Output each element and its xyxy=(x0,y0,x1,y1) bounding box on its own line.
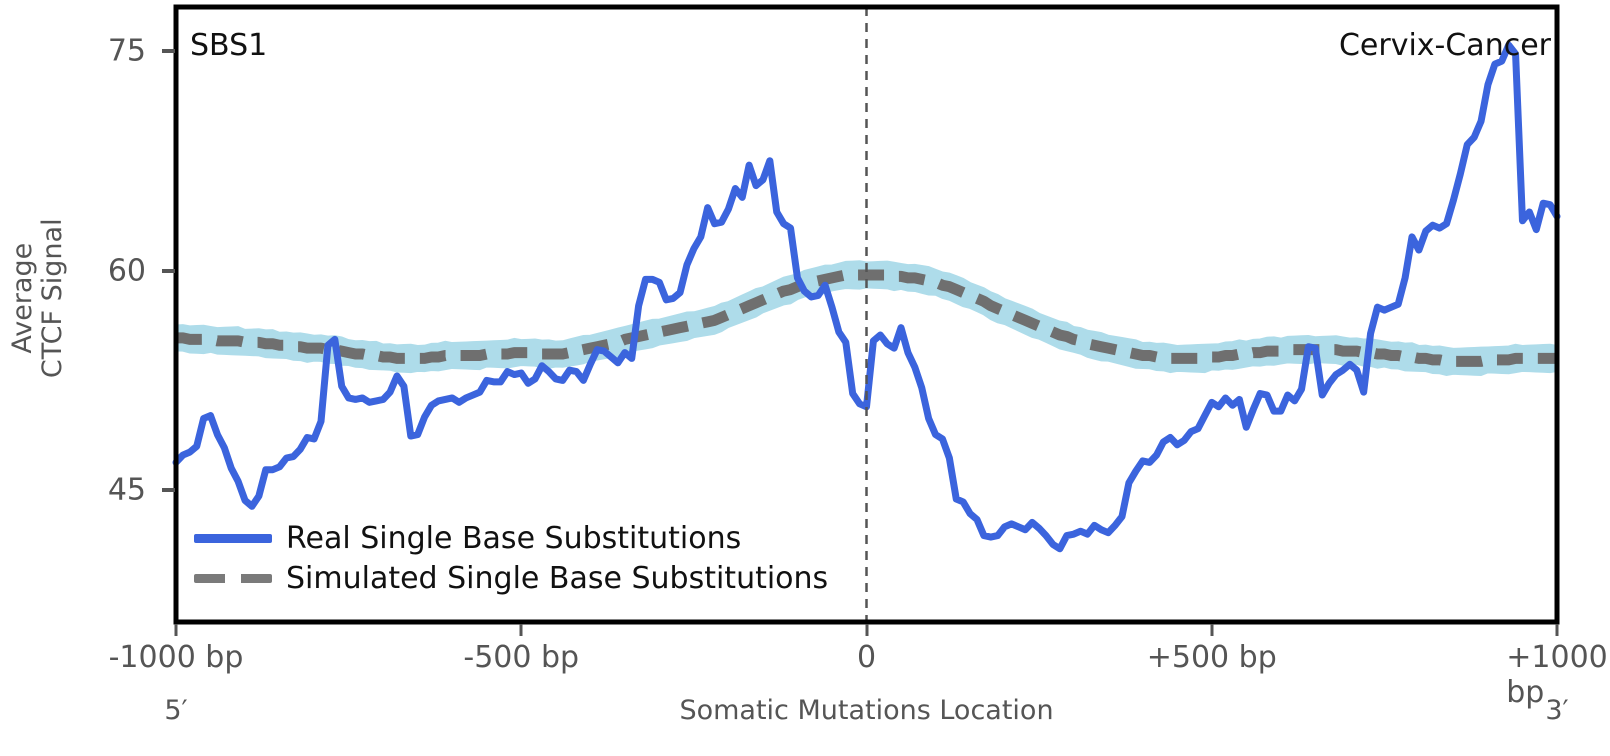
legend-item-simulated[interactable]: Simulated Single Base Substitutions xyxy=(194,561,828,596)
y-tick-mark xyxy=(162,488,175,492)
ctcf-signal-chart-figure: Average CTCF Signal 756045 -1000 bp-500 … xyxy=(0,0,1610,756)
panel-signature-label: SBS1 xyxy=(190,28,267,63)
y-tick-label: 45 xyxy=(108,473,146,508)
legend-swatch-dashed-line xyxy=(194,574,272,583)
x-tick-label: 0 xyxy=(857,640,876,675)
y-axis-title: Average CTCF Signal xyxy=(8,178,68,418)
y-tick-mark xyxy=(162,269,175,273)
x-tick-label: +500 bp xyxy=(1147,640,1277,675)
x-axis-title: Somatic Mutations Location xyxy=(679,695,1053,726)
x-tick-mark xyxy=(1556,624,1559,636)
legend-label-simulated: Simulated Single Base Substitutions xyxy=(286,561,828,596)
x-tick-mark xyxy=(1210,624,1213,636)
five-prime-label: 5′ xyxy=(164,695,187,726)
x-tick-mark xyxy=(175,624,178,636)
x-tick-mark xyxy=(520,624,523,636)
y-tick-mark xyxy=(162,49,175,53)
three-prime-label: 3′ xyxy=(1545,695,1568,726)
y-tick-label: 60 xyxy=(108,253,146,288)
x-tick-mark xyxy=(865,624,868,636)
x-tick-label: -1000 bp xyxy=(109,640,244,675)
legend-swatch-solid-line xyxy=(194,534,272,543)
legend-item-real[interactable]: Real Single Base Substitutions xyxy=(194,521,741,556)
y-tick-label: 75 xyxy=(108,33,146,68)
legend-label-real: Real Single Base Substitutions xyxy=(286,521,741,556)
x-tick-label: -500 bp xyxy=(463,640,579,675)
cohort-label: Cervix-Cancer xyxy=(1339,28,1551,63)
